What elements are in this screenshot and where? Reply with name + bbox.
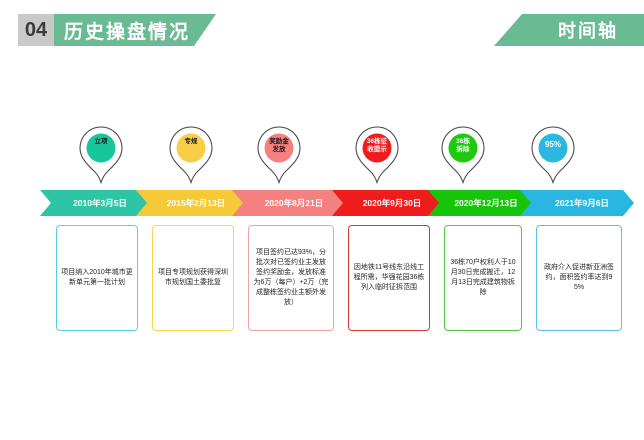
timeline-pin-3: 奖励金发放 — [256, 126, 302, 184]
timeline: 立项专规奖励金发放36栋征收提示36栋拆除95% 2010年3月5日2015年2… — [0, 124, 644, 335]
map-pin-icon — [168, 126, 214, 184]
timeline-date-6: 2021年9月6日 — [520, 190, 634, 216]
timeline-description-text-4: 因地铁11号线东沿线工程所需，华强花园36栋列入临时征拆范围 — [353, 263, 425, 293]
timeline-date-4: 2020年9月30日 — [332, 190, 442, 216]
timeline-pin-label-4: 36栋征收提示 — [354, 138, 400, 153]
timeline-pin-label-5: 36栋拆除 — [440, 138, 486, 153]
timeline-description-box-5: 36栋70户权利人于10月30日完成搬迁，12月13日完成建筑物拆除 — [444, 225, 522, 331]
timeline-description-text-2: 项目专项规划获得深圳市规划国土委批复 — [157, 268, 229, 288]
map-pin-icon — [530, 126, 576, 184]
timeline-description-text-5: 36栋70户权利人于10月30日完成搬迁，12月13日完成建筑物拆除 — [449, 258, 517, 298]
timeline-description-text-3: 项目签约已达93%，分批次对已签约业主发放签约奖励金，发放标准为6万（每户）+2… — [253, 248, 329, 308]
timeline-descriptions-row: 项目纳入2010年城市更新单元第一批计划项目专项规划获得深圳市规划国土委批复项目… — [0, 225, 644, 335]
timeline-pin-5: 36栋拆除 — [440, 126, 486, 184]
timeline-date-2: 2015年2月13日 — [136, 190, 246, 216]
timeline-pin-2: 专规 — [168, 126, 214, 184]
section-title-banner: 历史操盘情况 — [54, 14, 216, 46]
timeline-dates-row: 2010年3月5日2015年2月13日2020年8月21日2020年9月30日2… — [0, 190, 644, 216]
map-pin-icon — [78, 126, 124, 184]
header-right-label: 时间轴 — [494, 14, 644, 46]
timeline-pin-1: 立项 — [78, 126, 124, 184]
map-pin-icon — [440, 126, 486, 184]
timeline-description-box-4: 因地铁11号线东沿线工程所需，华强花园36栋列入临时征拆范围 — [348, 225, 430, 331]
timeline-pins-row: 立项专规奖励金发放36栋征收提示36栋拆除95% — [0, 124, 644, 188]
page-header: 04 历史操盘情况 时间轴 — [0, 0, 644, 62]
timeline-pin-label-2: 专规 — [168, 138, 214, 146]
timeline-date-1: 2010年3月5日 — [40, 190, 150, 216]
timeline-description-text-1: 项目纳入2010年城市更新单元第一批计划 — [61, 268, 133, 288]
timeline-date-3: 2020年8月21日 — [232, 190, 346, 216]
map-pin-icon — [354, 126, 400, 184]
timeline-description-box-2: 项目专项规划获得深圳市规划国土委批复 — [152, 225, 234, 331]
timeline-description-box-3: 项目签约已达93%，分批次对已签约业主发放签约奖励金，发放标准为6万（每户）+2… — [248, 225, 334, 331]
timeline-description-box-1: 项目纳入2010年城市更新单元第一批计划 — [56, 225, 138, 331]
timeline-pin-label-3: 奖励金发放 — [256, 138, 302, 153]
section-number-badge: 04 — [18, 14, 54, 46]
timeline-description-box-6: 政府介入促进新亚洲签约，面积签约率达到95% — [536, 225, 622, 331]
timeline-date-5: 2020年12月13日 — [428, 190, 534, 216]
timeline-pin-4: 36栋征收提示 — [354, 126, 400, 184]
timeline-description-text-6: 政府介入促进新亚洲签约，面积签约率达到95% — [541, 263, 617, 293]
map-pin-icon — [256, 126, 302, 184]
header-left-group: 04 历史操盘情况 — [18, 14, 216, 46]
timeline-pin-6: 95% — [530, 126, 576, 184]
timeline-pin-label-1: 立项 — [78, 138, 124, 146]
timeline-pin-label-6: 95% — [530, 141, 576, 149]
